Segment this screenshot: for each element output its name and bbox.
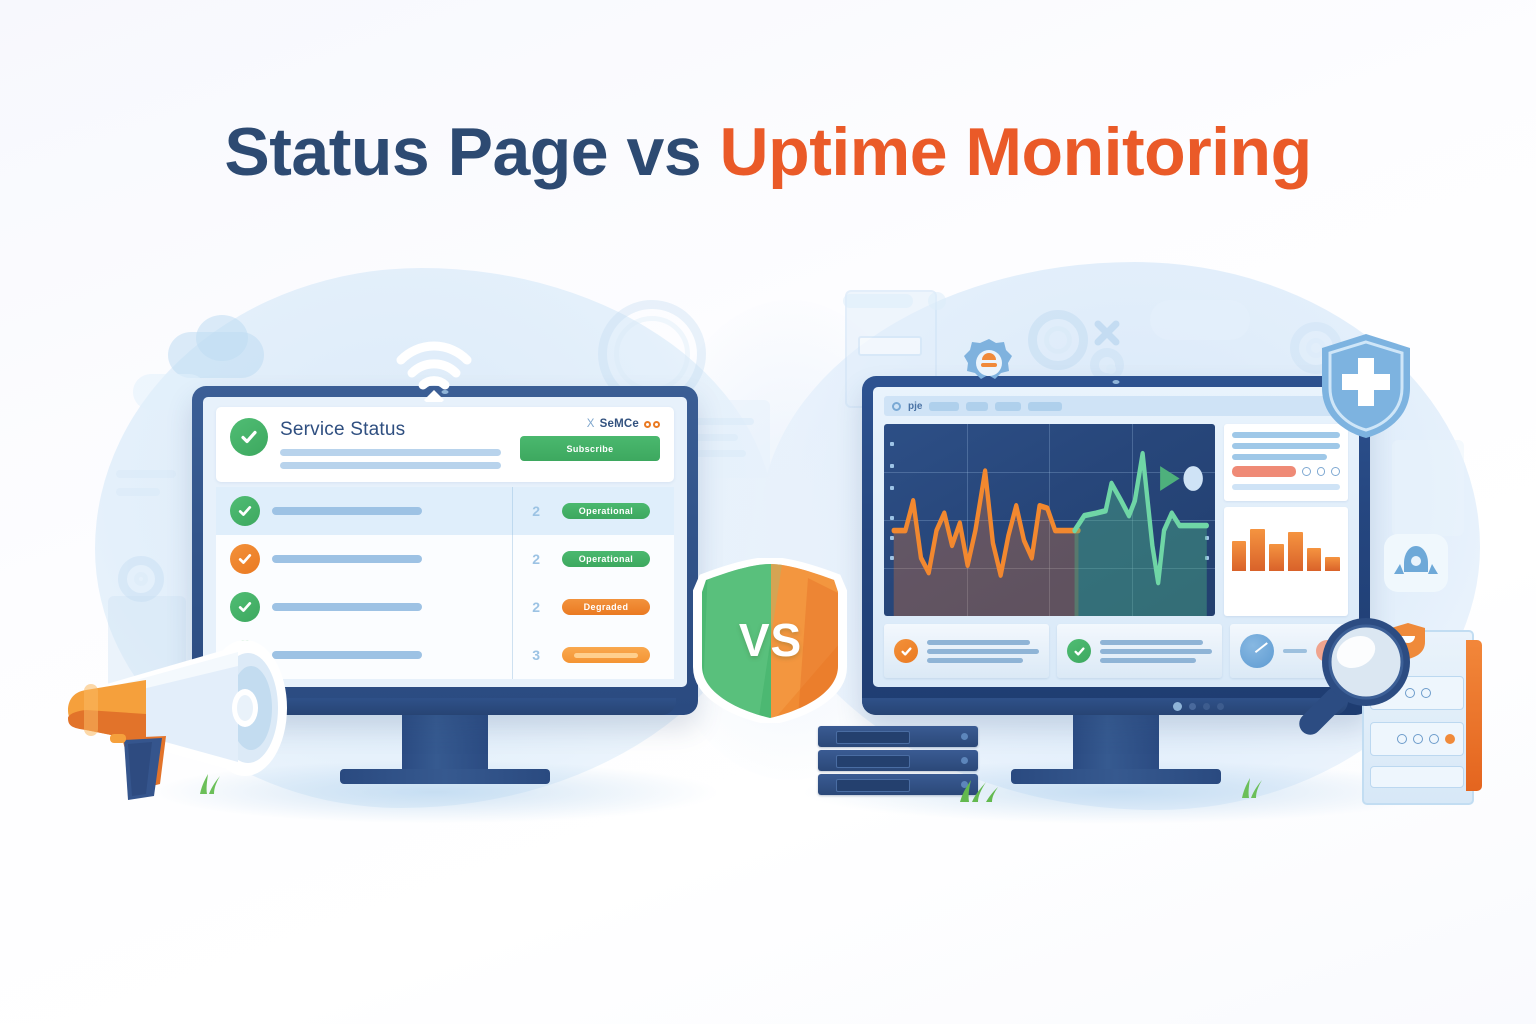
circle-outline-icon [1421,688,1431,698]
row-number: 2 [532,503,540,519]
placeholder-line [1232,454,1327,460]
monitor-neck-left [402,715,488,769]
decor-line [858,336,922,356]
monitor-foot-right [1011,769,1221,784]
uptime-dashboard-screen: pje [873,387,1359,687]
circle-outline-icon [1429,734,1439,744]
toolbar-label: pje [908,401,922,412]
table-row[interactable]: 2 Operational [216,487,674,535]
wifi-icon [395,340,473,407]
play-triangle-icon [1160,466,1179,491]
decor-line [116,488,160,496]
server-unit [818,750,978,771]
monitor-foot-left [340,769,550,784]
row-divider [512,535,513,583]
cloud-icon [1150,300,1250,340]
side-card-bar-chart [1224,507,1348,616]
dashboard-toolbar: pje [884,396,1348,416]
status-badge: Operational [562,503,650,519]
row-divider [512,631,513,679]
decor-x-icon [1092,318,1122,348]
rack-slot [1370,766,1464,788]
server-unit [818,726,978,747]
server-unit [818,774,978,795]
check-circle-green-icon [230,496,260,526]
table-row[interactable]: 2 Degraded [216,583,674,631]
magnifying-glass-icon [1288,612,1418,747]
title-part-dark: Status Page vs [224,114,719,190]
uptime-line-chart [884,424,1215,616]
circle-outline-icon [1302,467,1311,476]
bar [1307,548,1322,571]
shield-cross-icon [1318,332,1414,440]
status-dot-icon [1183,466,1202,491]
brand-x: X [587,418,595,430]
check-circle-orange-icon [894,639,918,663]
check-circle-green-icon [1067,639,1091,663]
rack-accent [1466,640,1482,791]
page-title: Status Page vs Uptime Monitoring [0,118,1536,186]
vs-badge: VS [688,558,853,723]
row-divider [512,487,513,535]
toolbar-segment [929,402,959,411]
power-indicator-icon [1173,702,1182,711]
status-dot-icon [1445,734,1455,744]
placeholder-line [280,449,501,456]
row-divider [512,583,513,631]
alert-pill [1232,466,1296,477]
vs-label: VS [688,612,853,666]
rocket-icon [1378,528,1454,605]
title-part-orange: Uptime Monitoring [720,114,1312,190]
brand-dots-icon [644,421,660,428]
check-circle-green-icon [230,592,260,622]
server-stack-icon [818,726,978,804]
subscribe-button[interactable]: Subscribe [520,436,660,461]
illustration-canvas: Status Page vs Uptime Monitoring [0,0,1536,1024]
widget-lines [927,636,1039,667]
toolbar-segment [966,402,988,411]
gear-icon [1028,310,1088,370]
toolbar-segment [995,402,1021,411]
led-icon [1203,703,1210,710]
bar [1269,544,1284,571]
circle-outline-icon [892,402,901,411]
led-icon [1217,703,1224,710]
decor-card [1392,440,1464,536]
widget-lines [1100,636,1212,667]
grass-tuft [1238,776,1272,803]
grass-tuft [956,778,1000,807]
circle-outline-icon [1317,467,1326,476]
gear-icon [118,556,164,602]
widget-ok[interactable] [1057,624,1222,678]
service-status-header: Service Status X SeMCe Subscribe [216,407,674,482]
service-status-title: Service Status [280,420,508,440]
circle-outline-icon [1331,467,1340,476]
decor-line [843,294,913,308]
cloud-icon [196,315,248,361]
bar [1288,532,1303,571]
brand-label: X SeMCe [520,418,660,430]
bar [1325,557,1340,571]
monitor-neck-right [1073,715,1159,769]
gauge-icon [1240,634,1274,668]
row-number: 2 [532,551,540,567]
dashboard-side-panel [1224,424,1348,616]
table-row[interactable]: 2 Operational [216,535,674,583]
led-icon [1189,703,1196,710]
placeholder-line [280,462,501,469]
placeholder-line [272,603,422,611]
bar [1232,541,1247,571]
placeholder-line [1232,484,1340,490]
row-number: 2 [532,599,540,615]
brand-name: SeMCe [600,418,639,430]
widget-alert[interactable] [884,624,1049,678]
decor-line [116,470,176,478]
status-badge: Degraded [562,599,650,615]
settings-badge-icon [962,336,1016,395]
check-circle-green-icon [230,418,268,456]
decor-dot [928,292,946,310]
dashboard-widgets [884,624,1348,678]
placeholder-line [272,507,422,515]
status-badge [562,647,650,663]
check-circle-orange-icon [230,544,260,574]
bar-chart [1228,513,1344,571]
monitor-chin-right [862,698,1348,715]
row-number: 3 [532,647,540,663]
megaphone-icon [62,630,312,815]
placeholder-line [1232,443,1340,449]
status-badge: Operational [562,551,650,567]
toolbar-segment [1028,402,1062,411]
bar [1250,529,1265,571]
placeholder-line [272,555,422,563]
